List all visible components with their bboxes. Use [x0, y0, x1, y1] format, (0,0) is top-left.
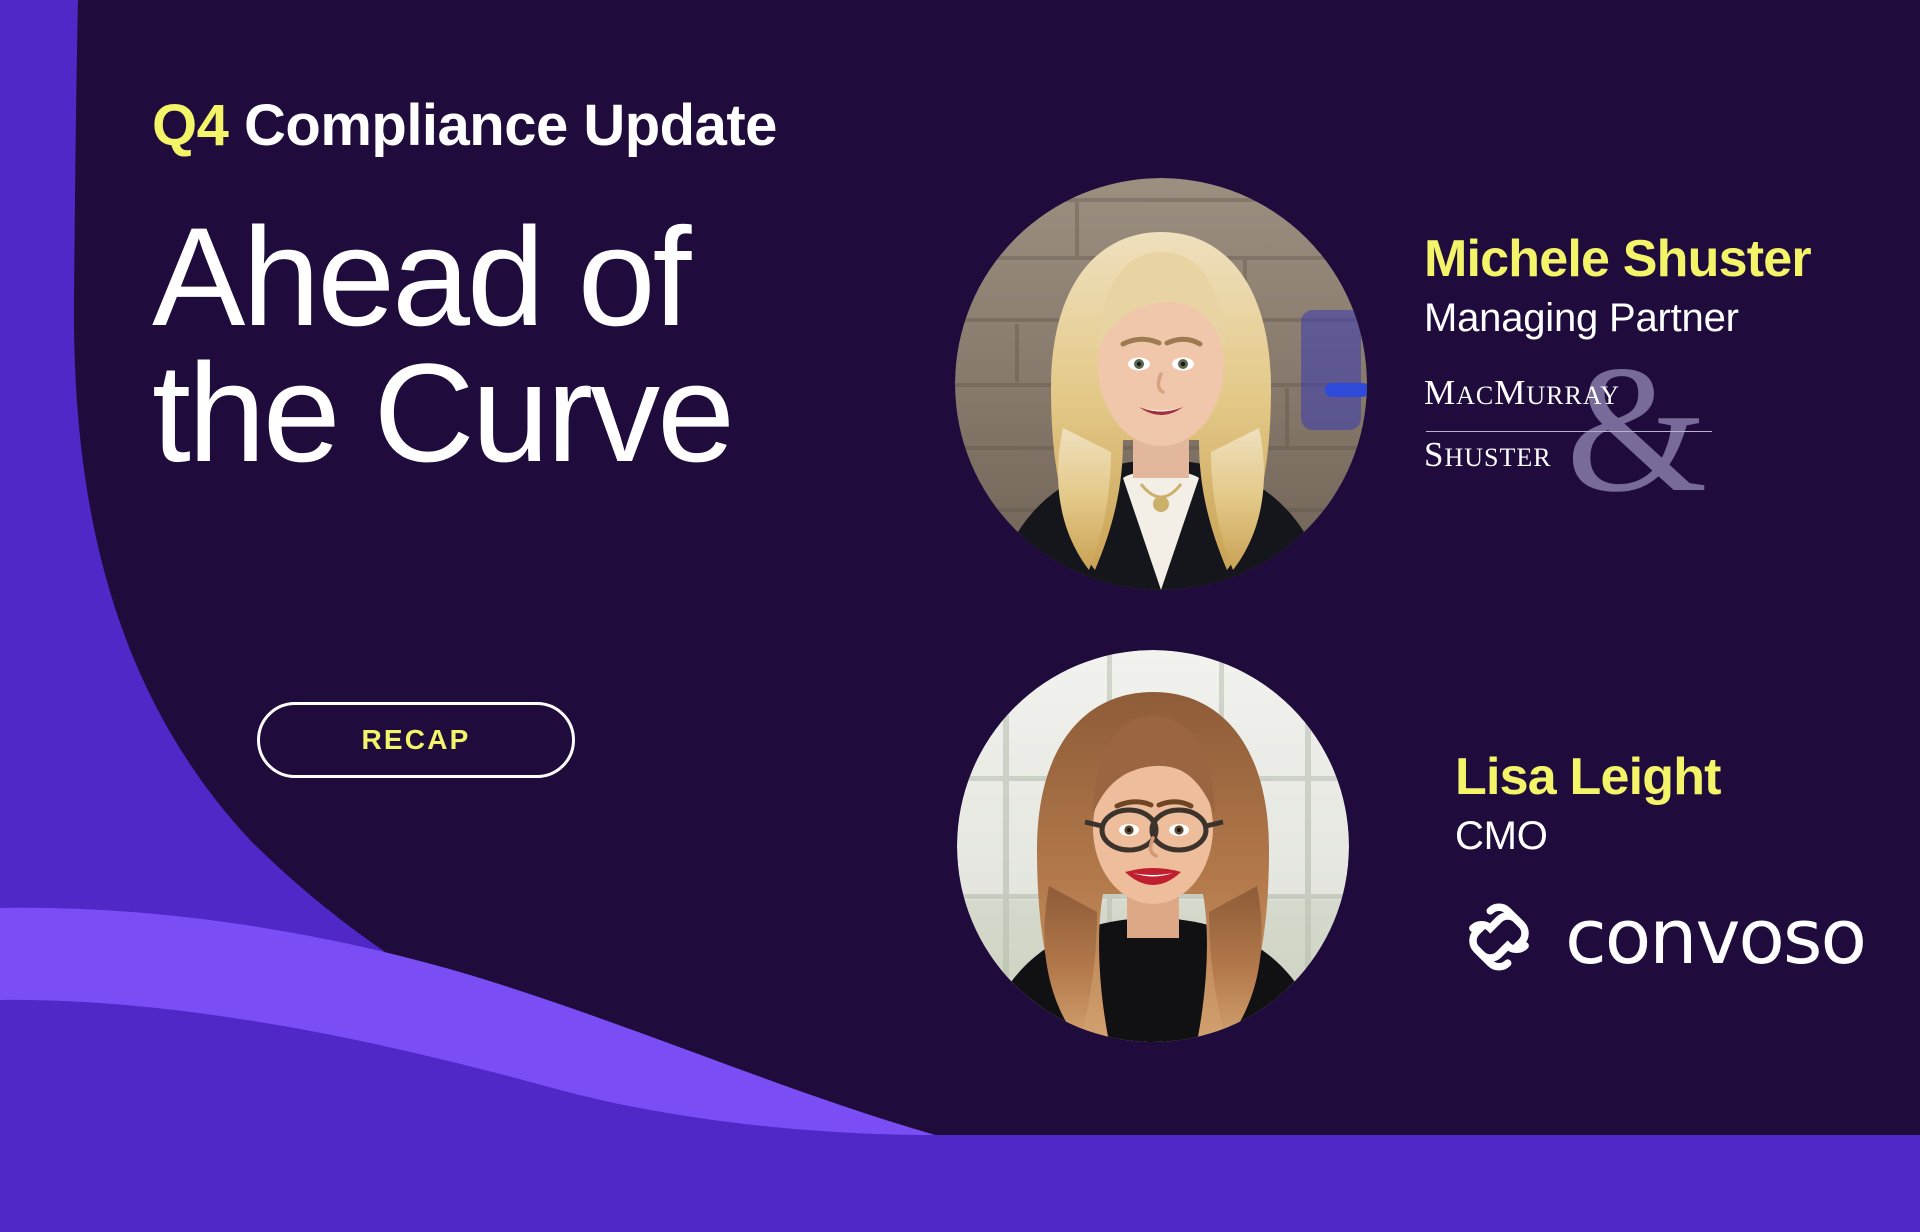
promo-banner: Q4 Compliance Update Ahead of the Curve … [0, 0, 1920, 1232]
speaker-2-title: CMO [1455, 811, 1895, 861]
convoso-wordmark: convoso [1565, 899, 1865, 975]
speaker-2-name: Lisa Leight [1455, 750, 1895, 805]
mms-m1: M [1424, 373, 1456, 412]
recap-label: RECAP [361, 724, 470, 756]
bottom-purple-band [0, 1135, 1920, 1232]
mms-huster: HUSTER [1444, 443, 1551, 472]
macmurray-shuster-logo: & MACMURRAY SHUSTER [1424, 369, 1764, 493]
page-title: Ahead of the Curve [152, 209, 912, 481]
recap-badge[interactable]: RECAP [257, 702, 575, 778]
convoso-knot-icon [1455, 893, 1543, 981]
logo-divider-rule [1426, 431, 1712, 432]
mms-m2: M [1494, 373, 1526, 412]
speaker-1-photo [955, 178, 1367, 590]
eyebrow-highlight: Q4 [152, 93, 228, 158]
headline-line-1: Ahead of [152, 209, 912, 345]
headline-block: Q4 Compliance Update Ahead of the Curve [152, 96, 912, 480]
eyebrow-rest: Compliance Update [244, 93, 777, 158]
ampersand-glyph: & [1566, 339, 1708, 521]
convoso-logo: convoso [1455, 891, 1895, 983]
mms-urray: URRAY [1526, 381, 1620, 410]
mms-s: S [1424, 435, 1444, 474]
eyebrow-line: Q4 Compliance Update [152, 96, 912, 157]
speaker-1-info: Michele Shuster Managing Partner & MACMU… [1424, 232, 1894, 493]
speaker-2-info: Lisa Leight CMO convoso [1455, 750, 1895, 983]
macmurray-logo-line-1: MACMURRAY [1424, 373, 1620, 413]
speaker-2-photo [957, 650, 1349, 1042]
macmurray-logo-line-2: SHUSTER [1424, 435, 1552, 475]
mms-ac: AC [1456, 381, 1494, 410]
headline-line-2: the Curve [152, 345, 912, 481]
speaker-1-name: Michele Shuster [1424, 232, 1894, 287]
